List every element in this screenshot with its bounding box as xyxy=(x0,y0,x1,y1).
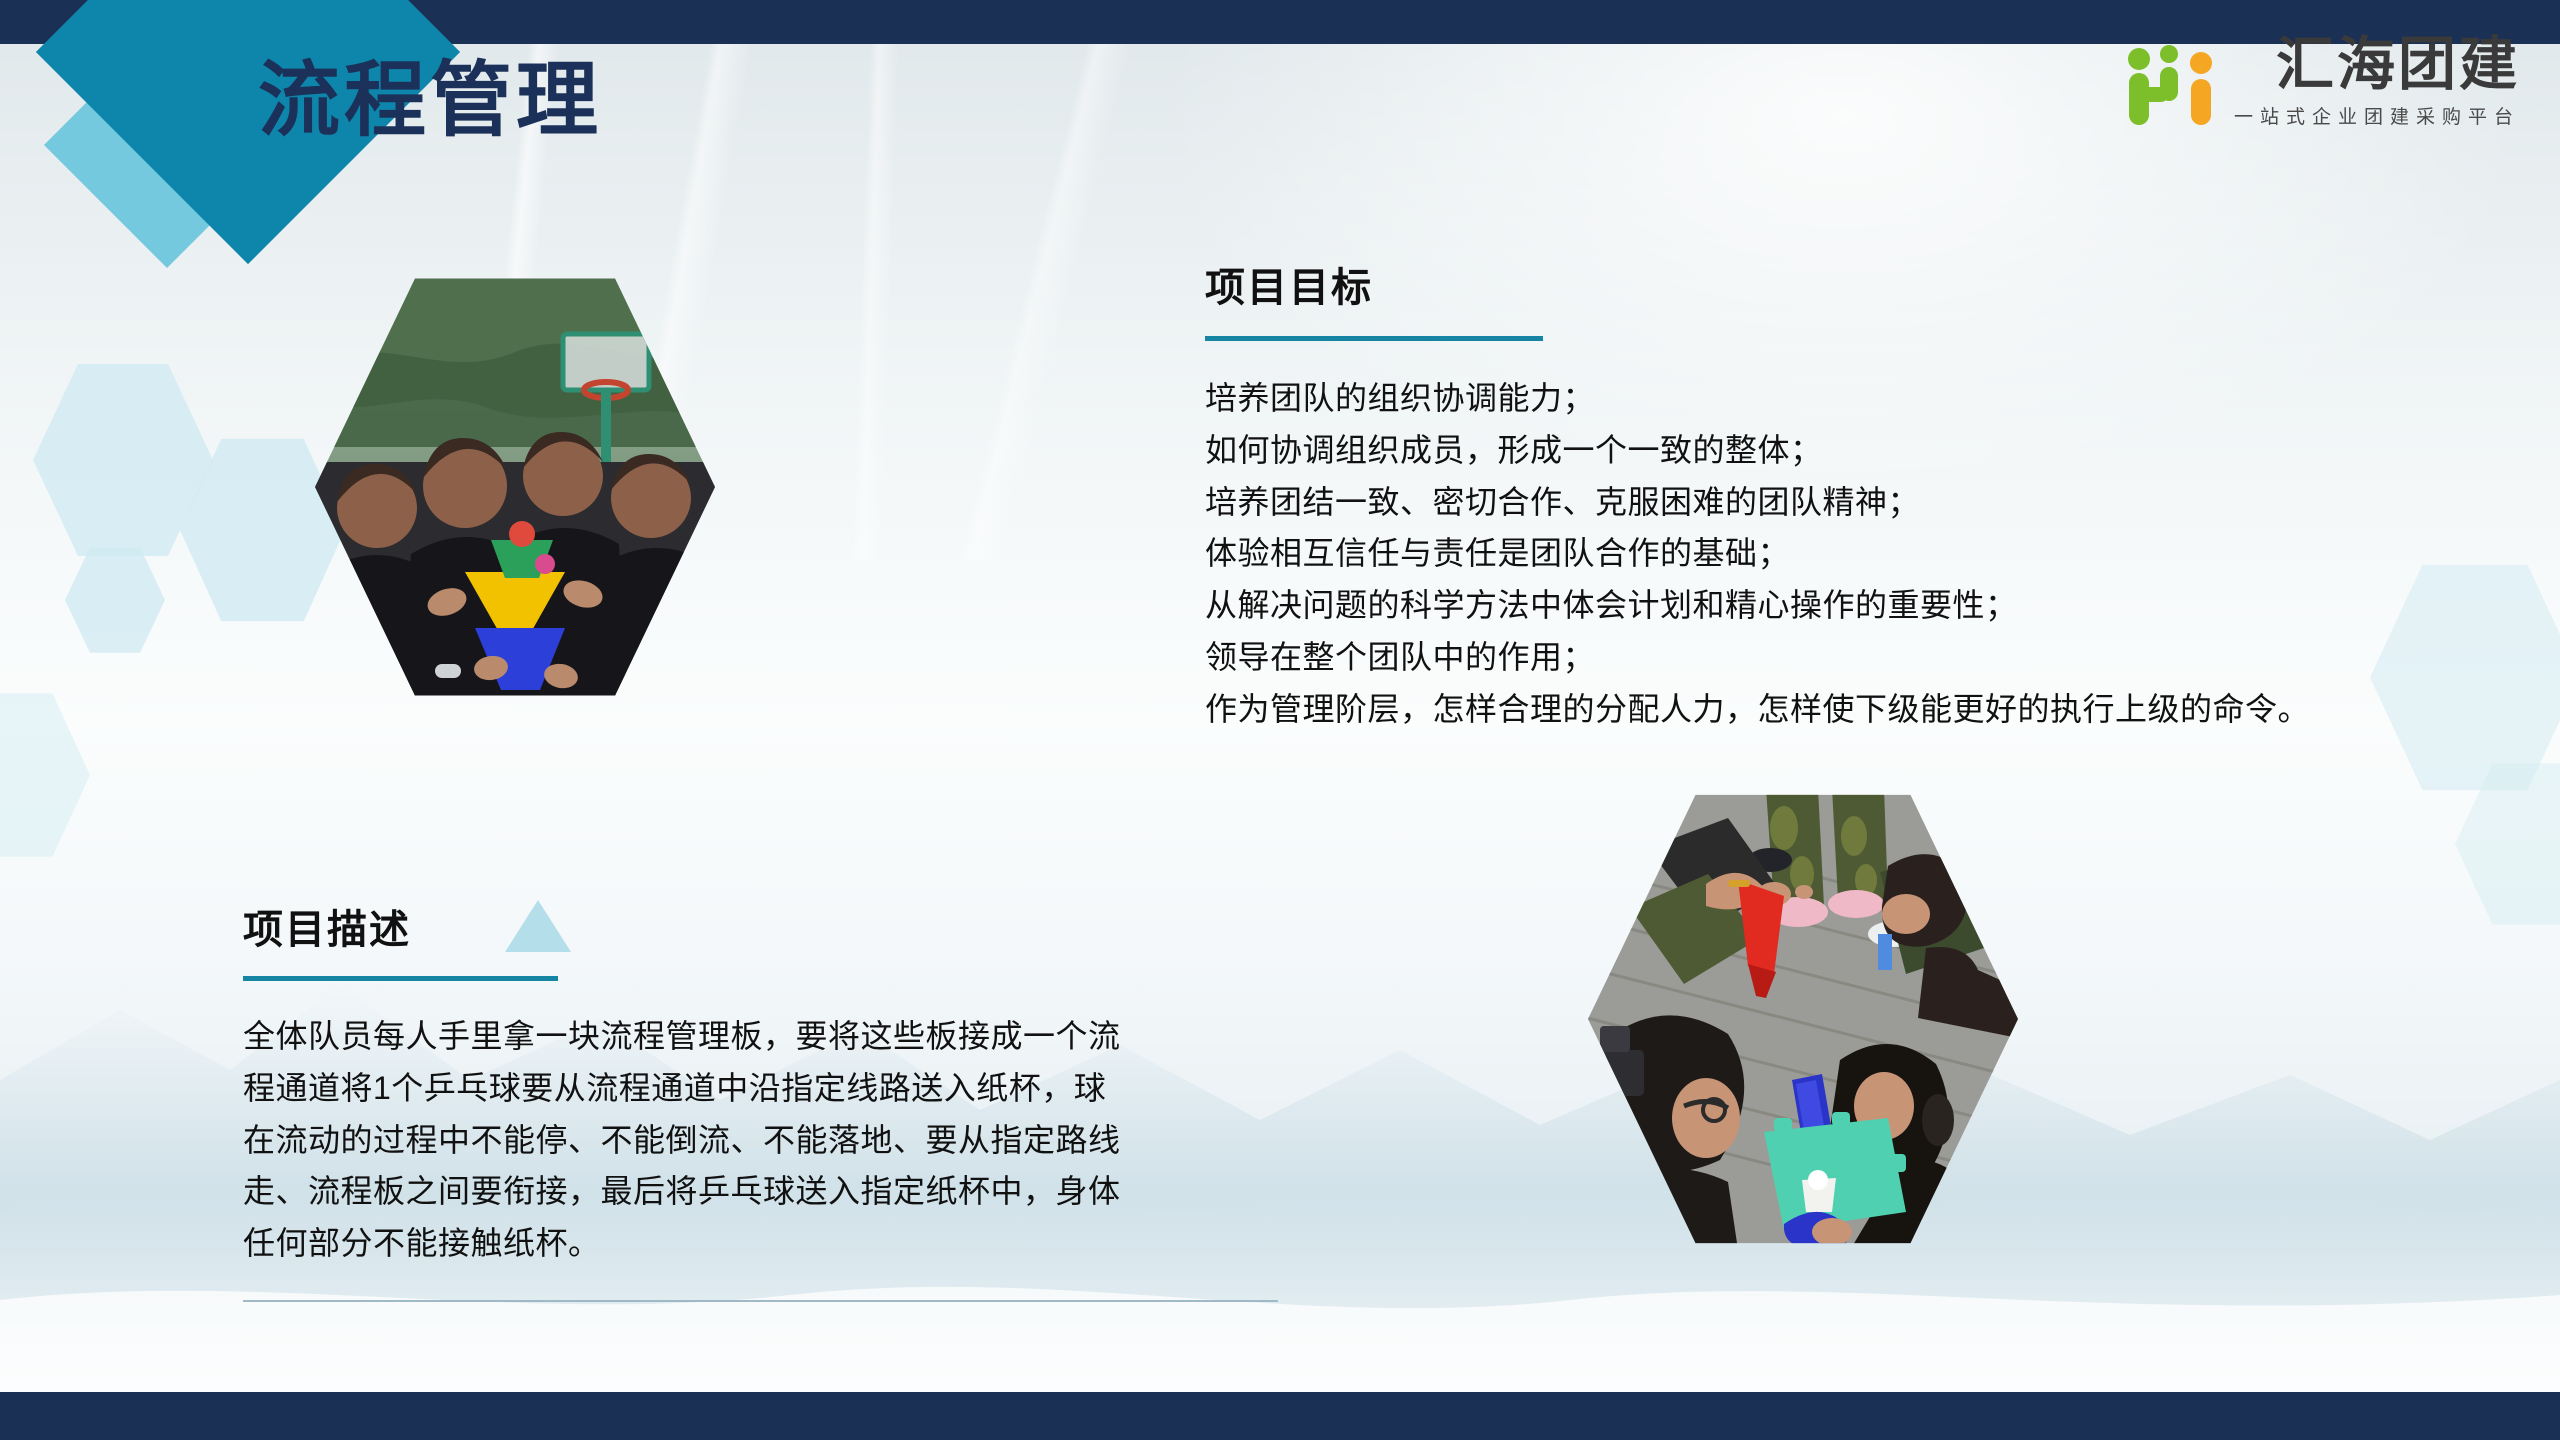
goals-section: 项目目标 培养团队的组织协调能力； 如何协调组织成员，形成一个一致的整体； 培养… xyxy=(1205,268,2525,736)
logo-wordmark: 汇海团建 xyxy=(2276,36,2520,94)
goal-item: 从解决问题的科学方法中体会计划和精心操作的重要性； xyxy=(1205,580,2525,632)
description-bottom-rule xyxy=(243,1300,1278,1302)
hi-people-logo-icon xyxy=(2122,43,2218,129)
page-title: 流程管理 xyxy=(258,60,602,142)
logo-tagline: 一站式企业团建采购平台 xyxy=(2234,102,2520,129)
team-building-photo-pipeline-cup xyxy=(1588,788,2018,1250)
goal-item: 体验相互信任与责任是团队合作的基础； xyxy=(1205,528,2525,580)
description-line: 全体队员每人手里拿一块流程管理板，要将这些板接成一个流 xyxy=(243,1011,1303,1063)
team-building-photo-cone-stack xyxy=(315,272,715,702)
bottom-navy-bar xyxy=(0,1392,2560,1440)
goal-item: 如何协调组织成员，形成一个一致的整体； xyxy=(1205,425,2525,477)
goal-item: 培养团结一致、密切合作、克服困难的团队精神； xyxy=(1205,477,2525,529)
description-section: 项目描述 全体队员每人手里拿一块流程管理板，要将这些板接成一个流 程通道将1个乒… xyxy=(243,910,1303,1302)
slide-root: 流程管理 汇海团建 一站式企业团建采购平台 xyxy=(0,0,2560,1440)
description-heading: 项目描述 xyxy=(243,910,1303,950)
goals-list: 培养团队的组织协调能力； 如何协调组织成员，形成一个一致的整体； 培养团结一致、… xyxy=(1205,373,2525,736)
hexagon-watermark xyxy=(0,690,90,860)
goals-heading-rule xyxy=(1205,336,1543,341)
brand-logo: 汇海团建 一站式企业团建采购平台 xyxy=(2122,36,2520,129)
hexagon-watermark xyxy=(65,545,165,655)
goal-item: 培养团队的组织协调能力； xyxy=(1205,373,2525,425)
description-line: 走、流程板之间要衔接，最后将乒乓球送入指定纸杯中，身体 xyxy=(243,1166,1303,1218)
logo-text-block: 汇海团建 一站式企业团建采购平台 xyxy=(2234,36,2520,129)
description-heading-rule xyxy=(243,976,558,981)
goal-item: 作为管理阶层，怎样合理的分配人力，怎样使下级能更好的执行上级的命令。 xyxy=(1205,684,2525,736)
description-line: 在流动的过程中不能停、不能倒流、不能落地、要从指定路线 xyxy=(243,1115,1303,1167)
goal-item: 领导在整个团队中的作用； xyxy=(1205,632,2525,684)
description-line: 程通道将1个乒乓球要从流程通道中沿指定线路送入纸杯，球 xyxy=(243,1063,1303,1115)
goals-heading: 项目目标 xyxy=(1205,268,2525,308)
description-line: 任何部分不能接触纸杯。 xyxy=(243,1218,1303,1270)
description-body: 全体队员每人手里拿一块流程管理板，要将这些板接成一个流 程通道将1个乒乓球要从流… xyxy=(243,1011,1303,1270)
